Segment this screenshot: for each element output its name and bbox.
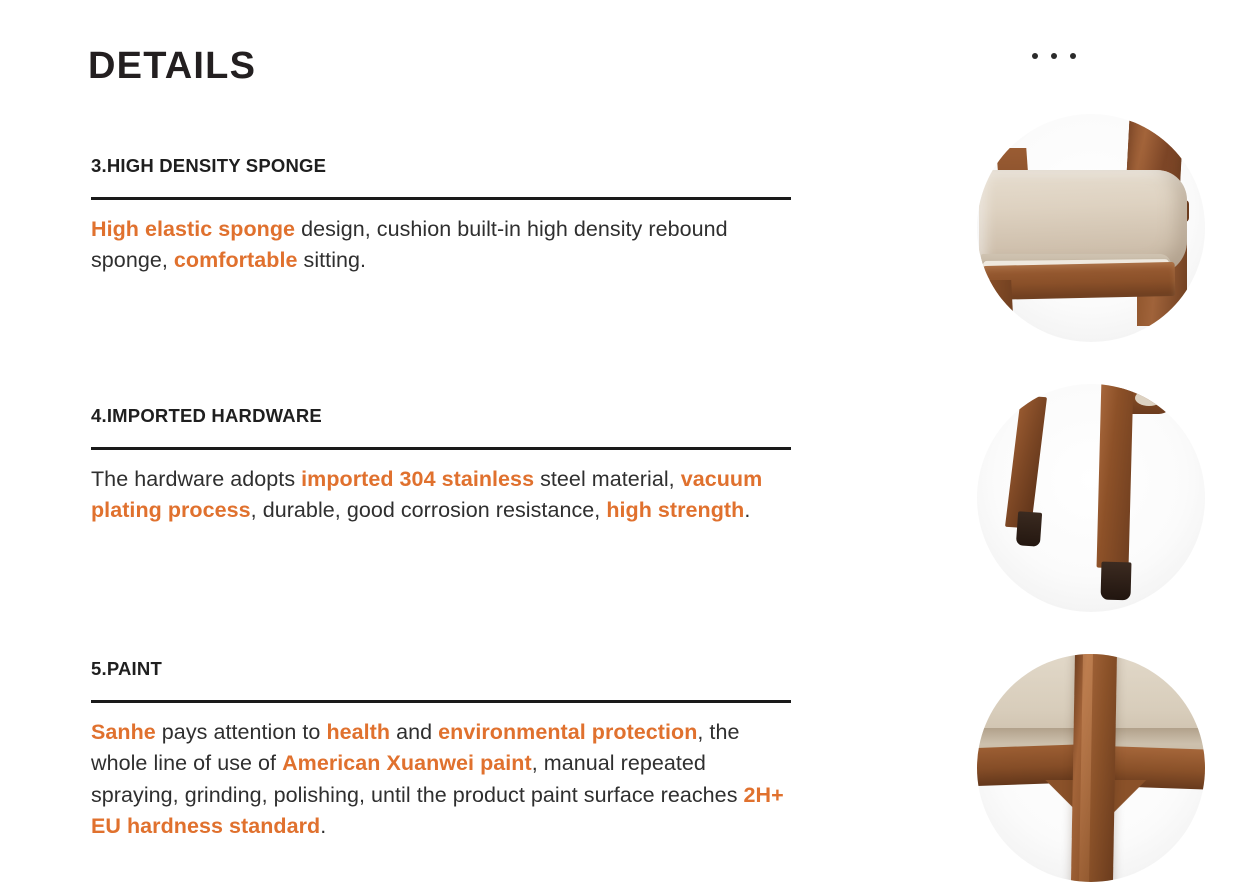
highlighted-phrase: Sanhe (91, 720, 156, 744)
details-page: DETAILS 3.HIGH DENSITY SPONGE High elast… (0, 0, 1256, 893)
section-divider (91, 197, 791, 200)
highlighted-phrase: American Xuanwei paint (282, 751, 532, 775)
highlighted-phrase: high strength (606, 498, 744, 522)
metal-foot-rear (1016, 511, 1042, 547)
metal-foot-front (1101, 562, 1132, 601)
highlighted-phrase: imported 304 stainless (301, 467, 534, 491)
ellipsis-dot (1070, 53, 1076, 59)
section-body: Sanhe pays attention to health and envir… (91, 717, 791, 842)
wood-corner-post (1071, 654, 1117, 882)
section-heading: 3.HIGH DENSITY SPONGE (91, 155, 791, 177)
section-divider (91, 447, 791, 450)
detail-photo-paint (977, 654, 1205, 882)
body-text-run: The hardware adopts (91, 467, 301, 491)
section-divider (91, 700, 791, 703)
photo-backdrop (977, 384, 1205, 612)
wood-leg-flare-right (1109, 780, 1159, 822)
body-text-run: , durable, good corrosion resistance, (251, 498, 607, 522)
detail-section-imported-hardware: 4.IMPORTED HARDWARE The hardware adopts … (91, 405, 791, 548)
body-text-run: sitting. (298, 248, 367, 272)
highlighted-phrase: environmental protection (438, 720, 697, 744)
body-text-run: . (744, 498, 750, 522)
section-body: The hardware adopts imported 304 stainle… (91, 464, 791, 526)
section-heading: 4.IMPORTED HARDWARE (91, 405, 791, 427)
highlighted-phrase: comfortable (174, 248, 298, 272)
photo-backdrop (977, 654, 1205, 882)
body-text-run: steel material, (534, 467, 681, 491)
detail-photo-sponge (977, 114, 1205, 342)
detail-photo-hardware (977, 384, 1205, 612)
detail-section-paint: 5.PAINT Sanhe pays attention to health a… (91, 658, 791, 863)
wood-leg-rear (1005, 395, 1047, 528)
detail-section-high-density-sponge: 3.HIGH DENSITY SPONGE High elastic spong… (91, 155, 791, 298)
page-title: DETAILS (88, 47, 256, 87)
body-text-run: . (320, 814, 326, 838)
highlighted-phrase: High elastic sponge (91, 217, 295, 241)
wood-leg-left (983, 280, 1015, 342)
highlighted-phrase: health (326, 720, 390, 744)
body-text-run: pays attention to (156, 720, 327, 744)
ellipsis-dot (1051, 53, 1057, 59)
section-body: High elastic sponge design, cushion buil… (91, 214, 791, 276)
ellipsis-dot (1032, 53, 1038, 59)
photo-backdrop (977, 114, 1205, 342)
body-text-run: and (390, 720, 438, 744)
section-heading: 5.PAINT (91, 658, 791, 680)
ellipsis-horizontal-icon[interactable] (1032, 46, 1076, 66)
wood-leg-front (1097, 384, 1134, 568)
cushion-peek (1135, 390, 1163, 406)
